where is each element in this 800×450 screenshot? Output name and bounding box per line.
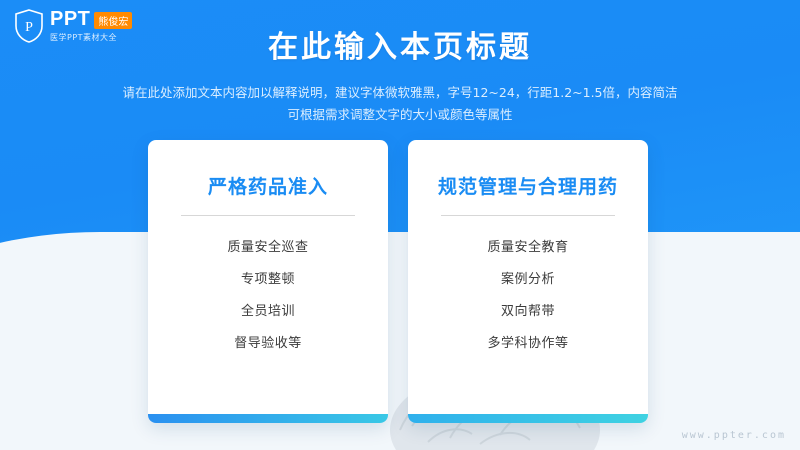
list-item: 全员培训 [241,296,295,328]
card-divider [181,215,355,216]
card-strict-drug-access: 严格药品准入 质量安全巡查 专项整顿 全员培训 督导验收等 [148,140,388,423]
list-item: 督导验收等 [234,328,302,360]
card-list: 质量安全巡查 专项整顿 全员培训 督导验收等 [148,232,388,360]
list-item: 质量安全巡查 [227,232,308,264]
list-item: 多学科协作等 [487,328,568,360]
page-title: 在此输入本页标题 [0,22,800,66]
card-heading: 规范管理与合理用药 [438,172,618,199]
footer-site-url: www.ppter.com [682,430,786,441]
slide-canvas: P PPT 熊俊宏 医学PPT素材大全 在此输入本页标题 请在此处添加文本内容加… [0,0,800,450]
card-heading: 严格药品准入 [208,172,328,199]
list-item: 双向帮带 [501,296,555,328]
card-group: 严格药品准入 质量安全巡查 专项整顿 全员培训 督导验收等 规范管理与合理用药 … [148,140,658,423]
subtitle-line-1: 请在此处添加文本内容加以解释说明，建议字体微软雅黑，字号12~24，行距1.2~… [0,82,800,104]
card-list: 质量安全教育 案例分析 双向帮带 多学科协作等 [408,232,648,360]
list-item: 专项整顿 [241,264,295,296]
card-footer-bar [148,414,388,423]
list-item: 案例分析 [501,264,555,296]
list-item: 质量安全教育 [487,232,568,264]
subtitle-line-2: 可根据需求调整文字的大小或颜色等属性 [0,104,800,126]
card-divider [441,215,615,216]
card-standard-management: 规范管理与合理用药 质量安全教育 案例分析 双向帮带 多学科协作等 [408,140,648,423]
card-footer-bar [408,414,648,423]
page-subtitle: 请在此处添加文本内容加以解释说明，建议字体微软雅黑，字号12~24，行距1.2~… [0,82,800,126]
